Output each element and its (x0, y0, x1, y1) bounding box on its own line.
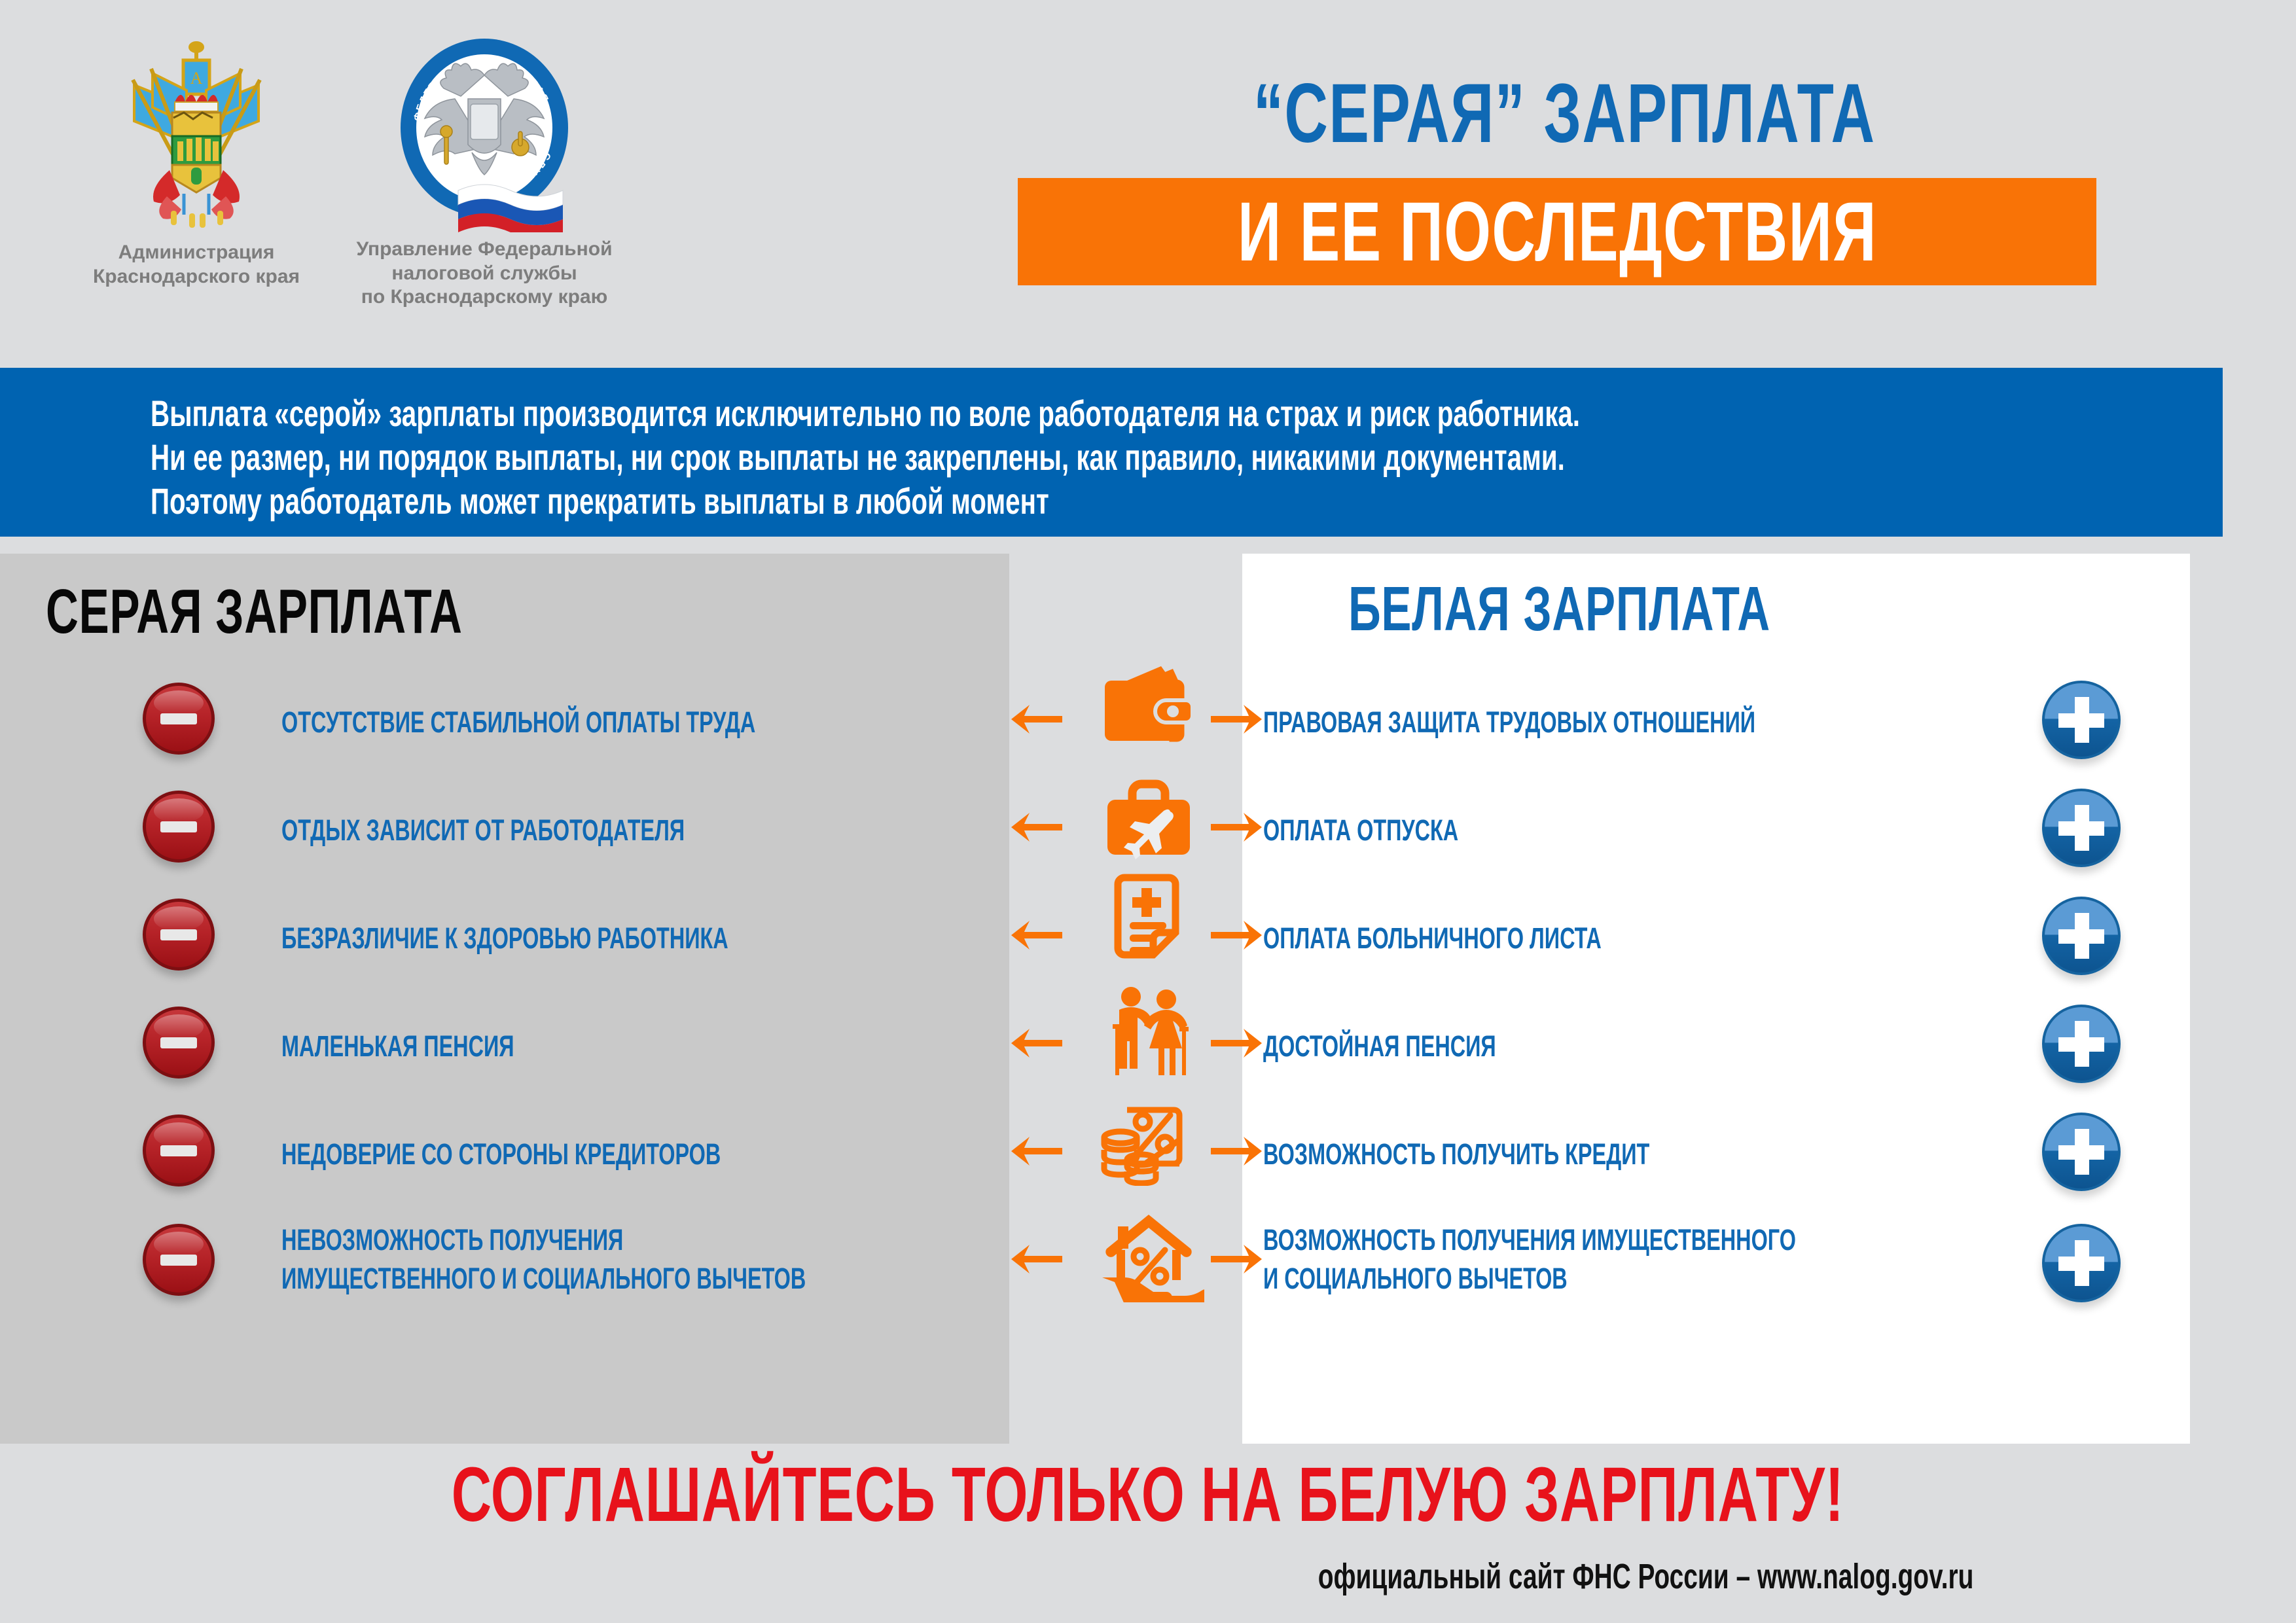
intro-banner-line3: Поэтому работодатель может прекратить вы… (151, 479, 2136, 523)
logo-admin-caption-line1: Администрация (118, 241, 275, 263)
arrow-left-6 (1010, 1243, 1066, 1275)
white-item-label-5: ВОЗМОЖНОСТЬ ПОЛУЧИТЬ КРЕДИТ (1263, 1135, 1800, 1174)
arrow-right-4 (1210, 1027, 1265, 1059)
grey-salary-heading: СЕРАЯ ЗАРПЛАТА (46, 576, 624, 648)
plus-icon-5 (2058, 1129, 2104, 1175)
minus-badge-2 (143, 791, 215, 863)
footer-site-text: официальный сайт ФНС России – www.nalog.… (1318, 1556, 1974, 1597)
plus-badge-5 (2042, 1113, 2121, 1191)
plus-icon-1 (2058, 697, 2104, 743)
coins-percent-icon (1073, 1094, 1224, 1189)
krasnodar-coat-of-arms-icon: A (79, 39, 314, 236)
intro-banner-line1: Выплата «серой» зарплаты производится ис… (151, 391, 2136, 435)
white-salary-heading: БЕЛАЯ ЗАРПЛАТА (1348, 573, 1935, 645)
white-salary-panel (1242, 554, 2190, 1444)
plus-icon-3 (2058, 913, 2104, 959)
logo-admin-caption: Администрация Краснодарского края (79, 241, 314, 289)
white-item-label-3: ОПЛАТА БОЛЬНИЧНОГО ЛИСТА (1263, 919, 1733, 958)
arrow-right-3 (1210, 919, 1265, 951)
fns-emblem-icon: ФЕДЕРАЛЬНАЯ НАЛОГОВАЯ СЛУЖБА (334, 36, 635, 232)
grey-item-label-4: МАЛЕНЬКАЯ ПЕНСИЯ (281, 1027, 605, 1066)
svg-text:A: A (190, 69, 203, 88)
footer-slogan-text: СОГЛАШАЙТЕСЬ ТОЛЬКО НА БЕЛУЮ ЗАРПЛАТУ! (452, 1450, 1844, 1539)
logo-admin: A (79, 39, 314, 289)
arrow-left-2 (1010, 811, 1066, 843)
intro-banner-text: Выплата «серой» зарплаты производится ис… (151, 391, 2136, 524)
footer-slogan: СОГЛАШАЙТЕСЬ ТОЛЬКО НА БЕЛУЮ ЗАРПЛАТУ! (0, 1450, 2296, 1539)
logo-fns-caption-line1: Управление Федеральной (356, 238, 612, 260)
grey-item-label-5: НЕДОВЕРИЕ СО СТОРОНЫ КРЕДИТОРОВ (281, 1135, 891, 1174)
suitcase-airplane-icon (1073, 774, 1224, 876)
plus-badge-2 (2042, 789, 2121, 867)
plus-badge-3 (2042, 897, 2121, 975)
grey-item-label-2: ОТДЫХ ЗАВИСИТ ОТ РАБОТОДАТЕЛЯ (281, 811, 842, 850)
arrow-right-2 (1210, 811, 1265, 843)
logo-fns-caption-line3: по Краснодарскому краю (361, 286, 608, 308)
elderly-couple-icon (1073, 985, 1224, 1085)
intro-banner-line2: Ни ее размер, ни порядок выплаты, ни сро… (151, 435, 2136, 479)
logo-fns-caption-line2: налоговой службы (391, 262, 577, 284)
medical-certificate-icon (1073, 874, 1224, 976)
grey-item-label-6: НЕВОЗМОЖНОСТЬ ПОЛУЧЕНИЯ ИМУЩЕСТВЕННОГО И… (281, 1221, 1010, 1298)
intro-banner: Выплата «серой» зарплаты производится ис… (0, 368, 2223, 537)
grey-item-label-1: ОТСУТСТВИЕ СТАБИЛЬНОЙ ОПЛАТЫ ТРУДА (281, 704, 940, 742)
arrow-left-3 (1010, 919, 1066, 951)
white-item-label-1: ПРАВОВАЯ ЗАЩИТА ТРУДОВЫХ ОТНОШЕНИЙ (1263, 704, 1947, 742)
arrow-left-4 (1010, 1027, 1066, 1059)
white-item-label-6: ВОЗМОЖНОСТЬ ПОЛУЧЕНИЯ ИМУЩЕСТВЕННОГО И С… (1263, 1221, 2003, 1298)
logo-admin-caption-line2: Краснодарского края (93, 266, 300, 287)
plus-icon-4 (2058, 1021, 2104, 1067)
minus-badge-1 (143, 683, 215, 755)
house-percent-hand-icon (1073, 1204, 1224, 1306)
header: A (0, 0, 2296, 366)
arrow-left-1 (1010, 704, 1066, 735)
white-item-label-2: ОПЛАТА ОТПУСКА (1263, 811, 1534, 850)
page-title-line2-text: И ЕЕ ПОСЛЕДСТВИЯ (1238, 184, 1877, 280)
plus-icon-2 (2058, 805, 2104, 851)
arrow-right-5 (1210, 1135, 1265, 1167)
minus-badge-4 (143, 1007, 215, 1079)
plus-badge-4 (2042, 1005, 2121, 1083)
page-title-line1: “СЕРАЯ” ЗАРПЛАТА (1001, 65, 2127, 162)
logo-fns-caption: Управление Федеральной налоговой службы … (334, 238, 635, 310)
logo-fns: ФЕДЕРАЛЬНАЯ НАЛОГОВАЯ СЛУЖБА (334, 36, 635, 310)
arrow-right-6 (1210, 1243, 1265, 1275)
footer-site-line: официальный сайт ФНС России – www.nalog.… (0, 1556, 2101, 1597)
white-item-label-4: ДОСТОЙНАЯ ПЕНСИЯ (1263, 1027, 1587, 1066)
minus-badge-5 (143, 1115, 215, 1186)
plus-icon-6 (2058, 1240, 2104, 1286)
grey-item-label-3: БЕЗРАЗЛИЧИЕ К ЗДОРОВЬЮ РАБОТНИКА (281, 919, 902, 958)
page-title-line1-text: “СЕРАЯ” ЗАРПЛАТА (1253, 65, 1876, 162)
wallet-icon (1073, 661, 1224, 756)
arrow-right-1 (1210, 704, 1265, 735)
minus-badge-3 (143, 899, 215, 971)
minus-badge-6 (143, 1224, 215, 1296)
plus-badge-6 (2042, 1224, 2121, 1302)
arrow-left-5 (1010, 1135, 1066, 1167)
page-title-line2-box: И ЕЕ ПОСЛЕДСТВИЯ (1018, 178, 2096, 285)
plus-badge-1 (2042, 681, 2121, 759)
grey-salary-panel (0, 554, 1009, 1444)
